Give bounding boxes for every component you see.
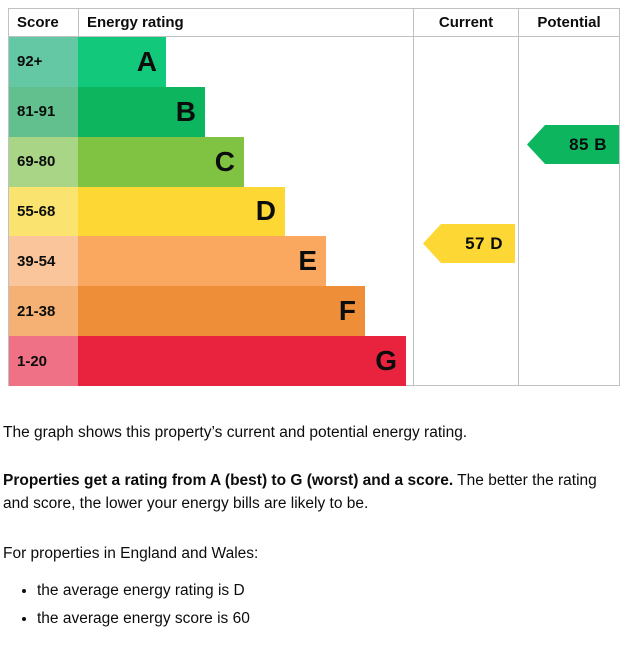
potential-rating-marker: 85 B bbox=[527, 125, 619, 164]
band-row-d: 55-68 D bbox=[9, 187, 619, 237]
score-cell-b: 81-91 bbox=[9, 87, 78, 137]
rating-letter-e: E bbox=[298, 247, 326, 275]
band-row-a: 92+ A bbox=[9, 37, 619, 87]
rating-bar-d: D bbox=[78, 187, 285, 237]
score-cell-e: 39-54 bbox=[9, 236, 78, 286]
column-header-potential: Potential bbox=[518, 9, 619, 36]
band-row-g: 1-20 G bbox=[9, 336, 619, 386]
epc-energy-rating-chart: Score Energy rating Current Potential 92… bbox=[8, 8, 620, 386]
chart-header-row: Score Energy rating Current Potential bbox=[9, 9, 619, 37]
rating-letter-c: C bbox=[215, 148, 244, 176]
score-cell-f: 21-38 bbox=[9, 286, 78, 336]
score-cell-d: 55-68 bbox=[9, 187, 78, 237]
region-intro: For properties in England and Wales: bbox=[3, 543, 623, 565]
band-row-e: 39-54 E bbox=[9, 236, 619, 286]
potential-rating-value: 85 B bbox=[569, 135, 619, 155]
intro-paragraph: The graph shows this property’s current … bbox=[3, 422, 623, 444]
column-divider-potential bbox=[518, 37, 519, 386]
rating-bar-e: E bbox=[78, 236, 326, 286]
column-header-score: Score bbox=[9, 9, 78, 36]
current-rating-marker: 57 D bbox=[423, 224, 515, 263]
rating-explanation-paragraph: Properties get a rating from A (best) to… bbox=[3, 470, 623, 515]
explanatory-text: The graph shows this property’s current … bbox=[3, 422, 623, 637]
rating-bar-c: C bbox=[78, 137, 244, 187]
current-rating-value: 57 D bbox=[465, 234, 515, 254]
list-item: the average energy score is 60 bbox=[37, 608, 623, 630]
score-cell-a: 92+ bbox=[9, 37, 78, 87]
band-row-b: 81-91 B bbox=[9, 87, 619, 137]
column-header-current: Current bbox=[413, 9, 518, 36]
column-header-energy-rating: Energy rating bbox=[78, 9, 413, 36]
score-cell-g: 1-20 bbox=[9, 336, 78, 386]
rating-bar-a: A bbox=[78, 37, 166, 87]
rating-letter-g: G bbox=[375, 347, 406, 375]
rating-bar-g: G bbox=[78, 336, 406, 386]
score-cell-c: 69-80 bbox=[9, 137, 78, 187]
rating-letter-f: F bbox=[339, 297, 365, 325]
rating-letter-d: D bbox=[256, 197, 285, 225]
rating-bar-f: F bbox=[78, 286, 365, 336]
column-divider-current bbox=[413, 37, 414, 386]
list-item: the average energy rating is D bbox=[37, 580, 623, 602]
rating-letter-a: A bbox=[137, 48, 166, 76]
rating-letter-b: B bbox=[176, 98, 205, 126]
chart-body: 92+ A 81-91 B 69-80 C 55-68 D bbox=[9, 37, 619, 386]
region-averages-list: the average energy rating is D the avera… bbox=[3, 580, 623, 631]
band-row-f: 21-38 F bbox=[9, 286, 619, 336]
rating-bar-b: B bbox=[78, 87, 205, 137]
rating-explanation-bold: Properties get a rating from A (best) to… bbox=[3, 472, 453, 489]
